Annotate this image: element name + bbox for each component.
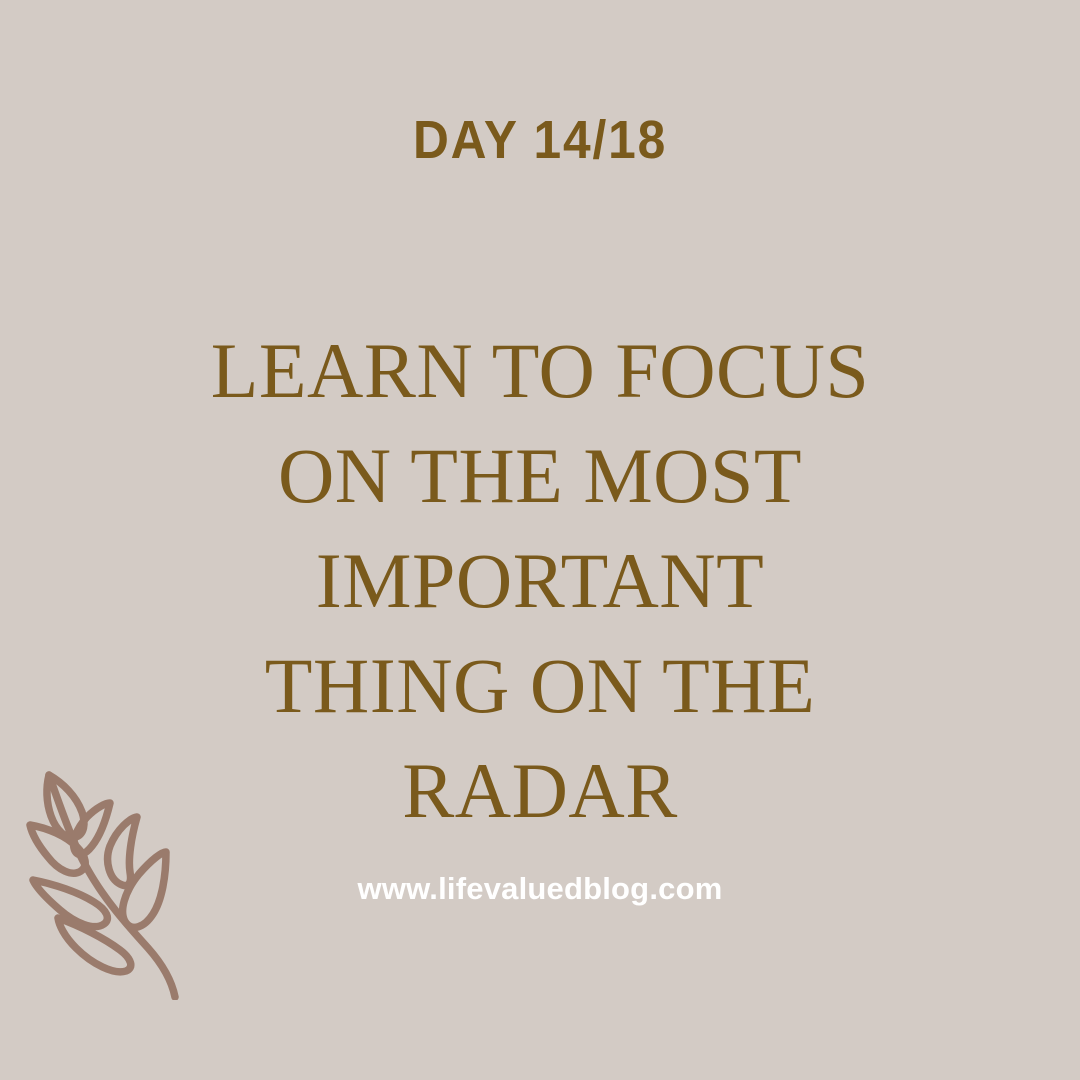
website-url-label: www.lifevaluedblog.com [0,868,1080,910]
quote-card: DAY 14/18 LEARN TO FOCUS ON THE MOST IMP… [0,0,1080,1080]
branch-leaf-upper-left [47,775,84,838]
quote-line: IMPORTANT [180,528,900,633]
quote-line: LEARN TO FOCUS [180,318,900,423]
day-counter-label: DAY 14/18 [43,108,1037,172]
quote-line: THING ON THE [180,633,900,738]
branch-leaf-upper-right [74,803,110,854]
quote-headline: LEARN TO FOCUS ON THE MOST IMPORTANT THI… [180,318,900,843]
quote-line: ON THE MOST [180,423,900,528]
branch-leaf-bottom-left [58,918,131,972]
branch-leaf-middle-left [30,825,85,873]
quote-line: RADAR [180,738,900,843]
